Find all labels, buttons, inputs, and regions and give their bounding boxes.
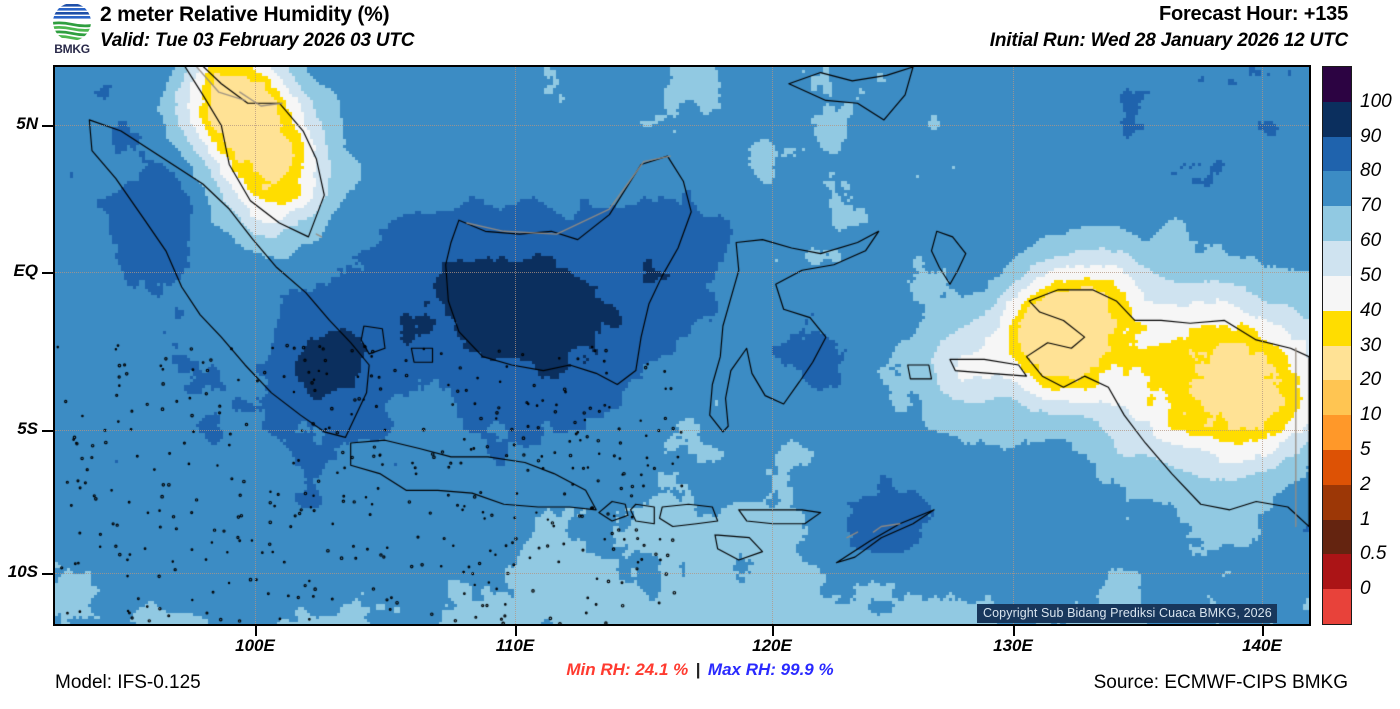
colorbar-tick-label: 40: [1360, 300, 1381, 322]
colorbar-tick-label: 70: [1360, 195, 1381, 217]
colorbar-band: [1323, 276, 1351, 311]
longitude-tick-label: 140E: [1242, 636, 1282, 656]
longitude-tick-label: 120E: [752, 636, 792, 656]
colorbar-band: [1323, 102, 1351, 137]
longitude-tick-mark: [255, 626, 257, 636]
valid-time-label: Valid: Tue 03 February 2026 03 UTC: [100, 30, 414, 52]
colorbar-tick-label: 0: [1360, 578, 1371, 600]
longitude-tick-mark: [515, 626, 517, 636]
bmkg-logo-icon: BMKG: [46, 2, 98, 58]
colorbar-band: [1323, 485, 1351, 520]
colorbar-tick-label: 20: [1360, 369, 1381, 391]
colorbar-band: [1323, 520, 1351, 555]
colorbar-band: [1323, 311, 1351, 346]
page-title: 2 meter Relative Humidity (%): [100, 3, 389, 27]
colorbar-tick-label: 5: [1360, 439, 1371, 461]
colorbar-band: [1323, 241, 1351, 276]
colorbar-tick-label: 2: [1360, 474, 1371, 496]
latitude-tick-label: 5N: [16, 114, 38, 134]
colorbar-band: [1323, 137, 1351, 172]
colorbar-tick-label: 100: [1360, 91, 1392, 113]
longitude-tick-mark: [1262, 626, 1264, 636]
colorbar-tick-label: 60: [1360, 230, 1381, 252]
stats-separator: |: [693, 660, 704, 679]
latitude-tick-mark: [42, 272, 53, 274]
latitude-tick-label: 5S: [17, 419, 38, 439]
latitude-tick-label: 10S: [8, 562, 38, 582]
weather-map-page: BMKG 2 meter Relative Humidity (%) Valid…: [0, 0, 1400, 709]
colorbar-tick-label: 50: [1360, 265, 1381, 287]
colorbar-band: [1323, 415, 1351, 450]
relative-humidity-raster: [55, 67, 1309, 624]
colorbar-tick-label: 80: [1360, 160, 1381, 182]
copyright-watermark: Copyright Sub Bidang Prediksi Cuaca BMKG…: [977, 604, 1277, 623]
latitude-tick-mark: [42, 573, 53, 575]
colorbar-band: [1323, 171, 1351, 206]
colorbar-band: [1323, 67, 1351, 102]
initial-run-label: Initial Run: Wed 28 January 2026 12 UTC: [990, 30, 1348, 52]
longitude-tick-label: 130E: [993, 636, 1033, 656]
bmkg-logo-text: BMKG: [46, 42, 98, 56]
colorbar-tick-label: 1: [1360, 509, 1371, 531]
latitude-tick-mark: [42, 125, 53, 127]
rh-stats: Min RH: 24.1 % | Max RH: 99.9 %: [0, 660, 1400, 680]
colorbar-band: [1323, 346, 1351, 381]
longitude-tick-label: 100E: [235, 636, 275, 656]
colorbar[interactable]: [1322, 66, 1352, 625]
longitude-tick-mark: [772, 626, 774, 636]
forecast-hour-label: Forecast Hour: +135: [1159, 3, 1348, 26]
colorbar-band: [1323, 450, 1351, 485]
colorbar-band: [1323, 380, 1351, 415]
colorbar-band: [1323, 589, 1351, 624]
longitude-tick-label: 110E: [496, 636, 534, 656]
max-rh-value: Max RH: 99.9 %: [708, 660, 834, 679]
colorbar-tick-label: 90: [1360, 126, 1381, 148]
colorbar-tick-label: 10: [1360, 404, 1381, 426]
colorbar-tick-label: 30: [1360, 335, 1381, 357]
colorbar-tick-label: 0.5: [1360, 543, 1386, 565]
longitude-tick-mark: [1013, 626, 1015, 636]
latitude-tick-label: EQ: [13, 261, 38, 281]
colorbar-band: [1323, 554, 1351, 589]
latitude-tick-mark: [42, 430, 53, 432]
min-rh-value: Min RH: 24.1 %: [566, 660, 688, 679]
map-plot-area[interactable]: Copyright Sub Bidang Prediksi Cuaca BMKG…: [53, 65, 1311, 626]
colorbar-band: [1323, 206, 1351, 241]
